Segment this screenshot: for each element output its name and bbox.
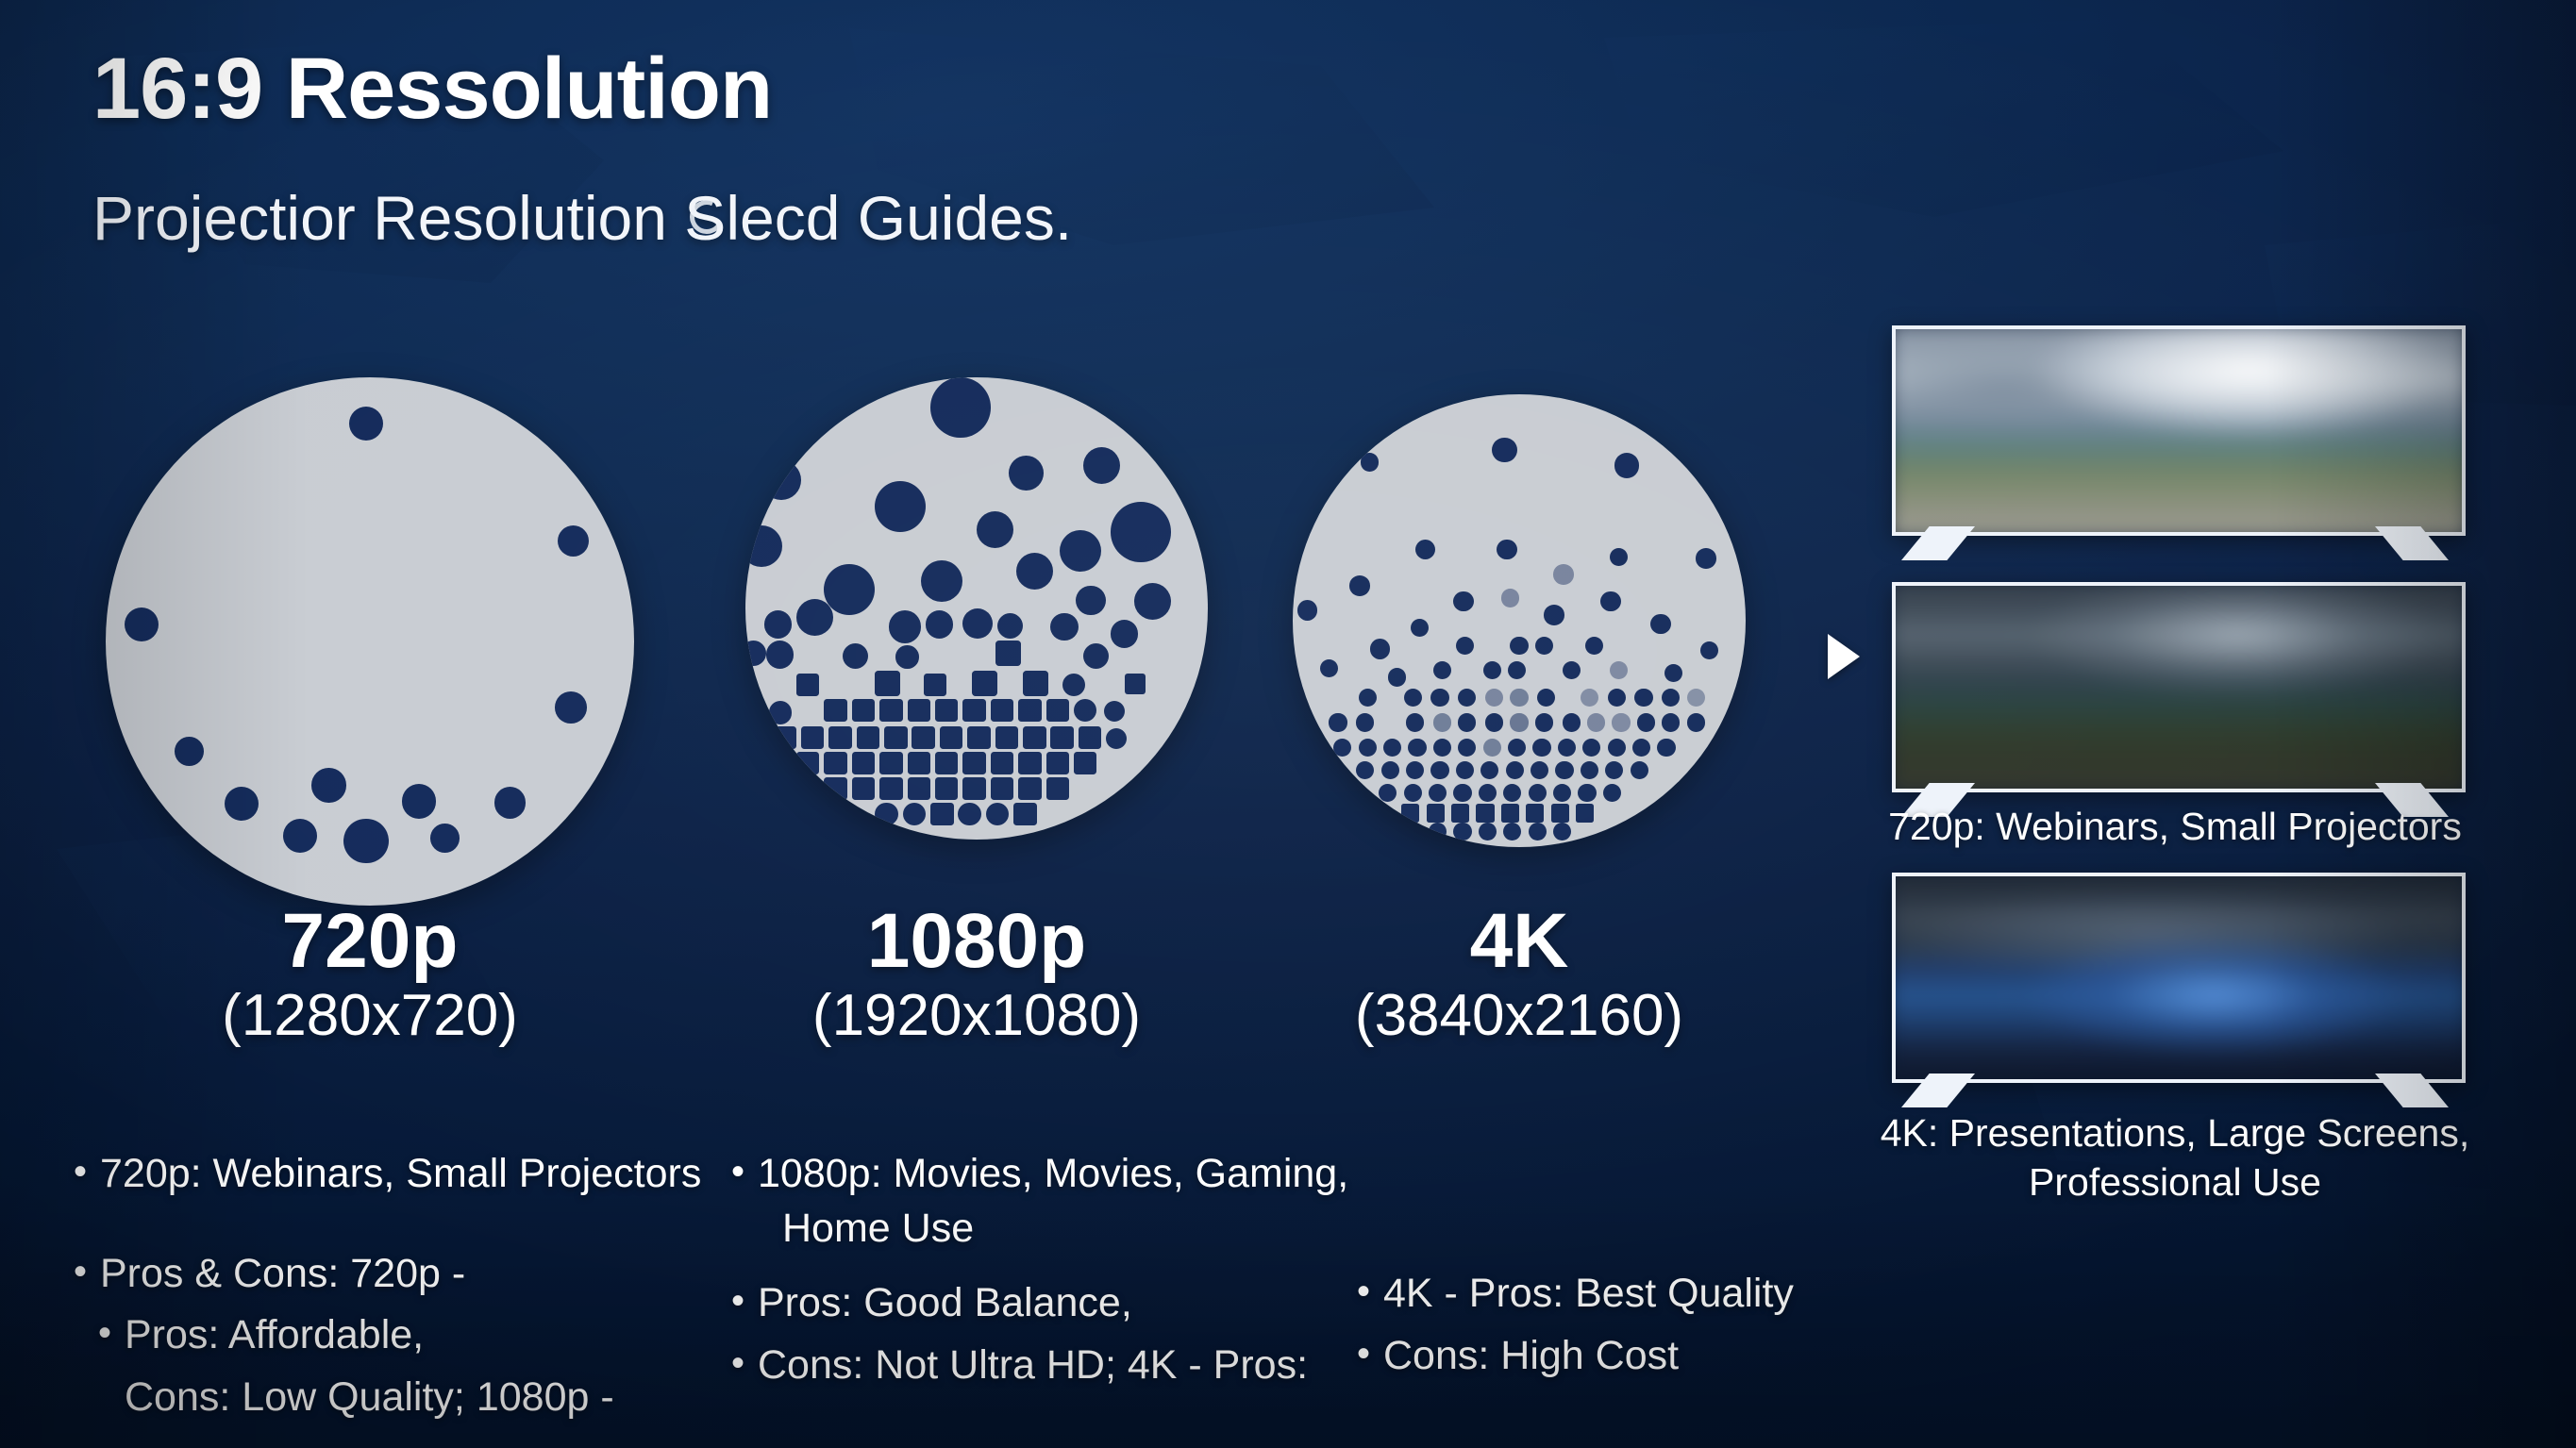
tv-picture-night-landscape <box>1896 876 2462 1079</box>
resolution-pixels-1080p: (1920x1080) <box>727 982 1227 1049</box>
bullet-column-right: • 4K - Pros: Best Quality • Cons: High C… <box>1357 1269 1942 1381</box>
list-item-text: Cons: High Cost <box>1383 1331 1942 1380</box>
disc-1080p-body <box>745 377 1208 840</box>
subtitle-glitch-text: Slecd <box>684 187 840 249</box>
list-item: • Cons: High Cost <box>1357 1331 1942 1380</box>
list-item-text: Cons: Low Quality; 1080p - <box>125 1373 734 1422</box>
list-item: • Pros & Cons: 720p - <box>74 1249 734 1298</box>
list-item: • 720p: Webinars, Small Projectors <box>74 1149 734 1198</box>
pixel-density-discs <box>0 349 1793 915</box>
list-item-text: Pros & Cons: 720p - <box>100 1249 734 1298</box>
disc-4k <box>1293 394 1746 847</box>
list-item-text: 1080p: Movies, Movies, Gaming, <box>758 1149 1354 1198</box>
subtitle-part-1: Projectior Resolution <box>92 183 684 253</box>
bullet-marker: • <box>98 1310 125 1356</box>
bullet-column-left: • 720p: Webinars, Small Projectors • Pro… <box>74 1149 734 1423</box>
play-triangle-right-icon <box>1828 634 1860 679</box>
bullet-marker: • <box>1357 1269 1383 1315</box>
resolution-pixels-4k: (3840x2160) <box>1293 982 1746 1049</box>
tv-picture-bright-landscape <box>1896 329 2462 532</box>
list-item-text: Home Use <box>782 1204 1354 1253</box>
resolution-label-4k: 4K (3840x2160) <box>1293 901 1746 1049</box>
bullet-marker: • <box>74 1249 100 1295</box>
resolution-pixels-720p: (1280x720) <box>106 982 634 1049</box>
resolution-label-1080p: 1080p (1920x1080) <box>727 901 1227 1049</box>
list-item-text: Pros: Good Balance, <box>758 1278 1354 1327</box>
tv-screen-3 <box>1892 873 2458 1075</box>
list-item-text: 4K - Pros: Best Quality <box>1383 1269 1942 1318</box>
resolution-name-4k: 4K <box>1293 901 1746 982</box>
list-item: Home Use <box>731 1204 1354 1253</box>
list-item: • 1080p: Movies, Movies, Gaming, <box>731 1149 1354 1198</box>
page-subtitle: Projectior Resolution Slecd Guides. <box>92 187 1072 249</box>
tv-screen-2 <box>1892 582 2458 785</box>
list-item-text: Pros: Affordable, <box>125 1310 734 1359</box>
slide-canvas: 16:9 Ressolution Projectior Resolution S… <box>0 0 2576 1448</box>
disc-720p-body <box>106 377 634 906</box>
bullet-marker: • <box>1357 1331 1383 1377</box>
list-item: • Pros: Good Balance, <box>731 1278 1354 1327</box>
tv-caption-4k: 4K: Presentations, Large Screens, Profes… <box>1845 1108 2505 1207</box>
bullet-marker: • <box>74 1149 100 1195</box>
tv-bezel-3 <box>1892 873 2466 1083</box>
disc-1080p <box>745 377 1208 840</box>
list-item-text: 720p: Webinars, Small Projectors <box>100 1149 734 1198</box>
subtitle-part-2: Guides. <box>840 183 1072 253</box>
bullet-column-middle: • 1080p: Movies, Movies, Gaming, Home Us… <box>731 1149 1354 1390</box>
resolution-label-720p: 720p (1280x720) <box>106 901 634 1049</box>
bullet-marker: • <box>731 1278 758 1324</box>
list-item: • Pros: Affordable, <box>74 1310 734 1359</box>
tv-screen-1 <box>1892 325 2458 528</box>
list-item: Cons: Low Quality; 1080p - <box>74 1373 734 1422</box>
disc-4k-body <box>1293 394 1746 847</box>
bullet-marker: • <box>731 1340 758 1387</box>
resolution-name-720p: 720p <box>106 901 634 982</box>
disc-720p <box>106 377 634 906</box>
bullet-marker: • <box>731 1149 758 1195</box>
tv-caption-720p: 720p: Webinars, Small Projectors <box>1849 802 2501 851</box>
tv-bezel-1 <box>1892 325 2466 536</box>
tv-caption-4k-line1: 4K: Presentations, Large Screens, <box>1845 1108 2505 1157</box>
page-title: 16:9 Ressolution <box>92 45 772 132</box>
list-item: • 4K - Pros: Best Quality <box>1357 1269 1942 1318</box>
tv-picture-dark-landscape <box>1896 586 2462 789</box>
list-item: • Cons: Not Ultra HD; 4K - Pros: <box>731 1340 1354 1390</box>
tv-bezel-2 <box>1892 582 2466 792</box>
list-item-text: Cons: Not Ultra HD; 4K - Pros: <box>758 1340 1354 1390</box>
resolution-name-1080p: 1080p <box>727 901 1227 982</box>
tv-caption-4k-line2: Professional Use <box>1845 1157 2505 1207</box>
